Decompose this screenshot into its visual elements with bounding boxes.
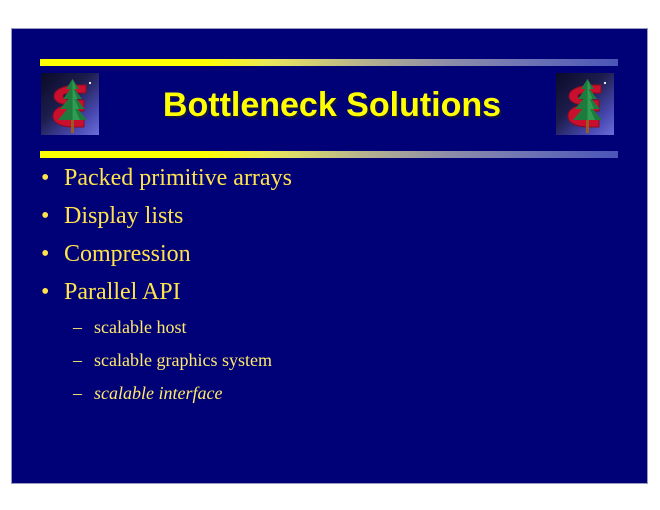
bullet-label: Parallel API <box>64 279 181 305</box>
bullet-label: Display lists <box>64 203 183 229</box>
sub-bullet-item: –scalable interface <box>12 377 647 410</box>
bullet-marker-icon: • <box>41 159 49 197</box>
bullet-marker-icon: • <box>41 273 49 311</box>
stanford-tree-logo-icon-left <box>41 73 99 135</box>
bullet-item: •Parallel API <box>12 273 647 311</box>
bullet-marker-icon: • <box>41 197 49 235</box>
bullet-item: •Compression <box>12 235 647 273</box>
bullet-label: scalable interface <box>94 383 222 403</box>
bullet-item: •Display lists <box>12 197 647 235</box>
page-title: Bottleneck Solutions <box>112 81 552 129</box>
bullet-label: Packed primitive arrays <box>64 165 292 191</box>
dash-marker-icon: – <box>73 344 82 377</box>
presentation-slide: Bottleneck Solutions •Packed primitive a… <box>11 28 648 484</box>
bullet-item: •Packed primitive arrays <box>12 159 647 197</box>
stanford-tree-logo-icon-right <box>556 73 614 135</box>
sub-bullet-item: –scalable graphics system <box>12 344 647 377</box>
bullet-label: scalable host <box>94 317 186 337</box>
bullet-marker-icon: • <box>41 235 49 273</box>
slide-body-bullet-list: •Packed primitive arrays•Display lists•C… <box>12 159 647 410</box>
title-divider-bottom <box>40 151 618 158</box>
slide-title-band: Bottleneck Solutions <box>12 29 647 154</box>
sub-bullet-item: –scalable host <box>12 311 647 344</box>
dash-marker-icon: – <box>73 377 82 410</box>
title-divider-top <box>40 59 618 66</box>
bullet-label: Compression <box>64 241 191 267</box>
dash-marker-icon: – <box>73 311 82 344</box>
bullet-label: scalable graphics system <box>94 350 272 370</box>
